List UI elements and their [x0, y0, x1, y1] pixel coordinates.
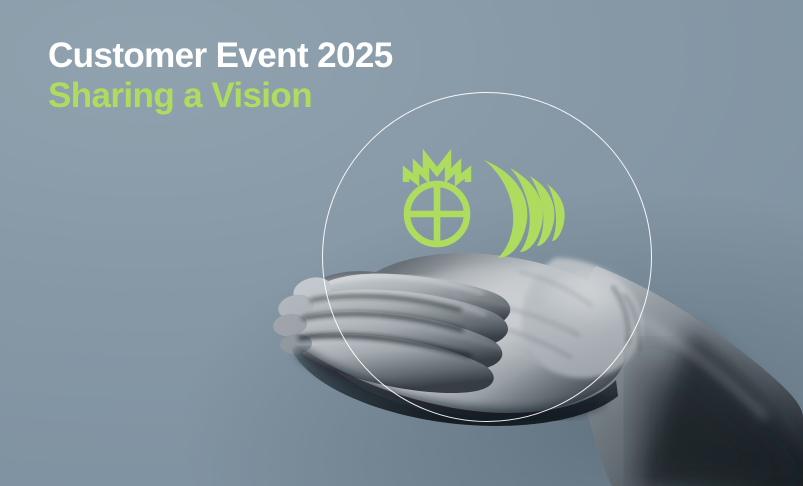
title-line-secondary: Sharing a Vision: [48, 78, 393, 113]
event-banner: Customer Event 2025 Sharing a Vision: [0, 0, 803, 486]
page-title: Customer Event 2025 Sharing a Vision: [48, 38, 393, 113]
circle-cross-emblem: [407, 184, 467, 244]
crown-icon: [406, 158, 468, 182]
crowned-circle-and-waves-logo: [398, 142, 578, 262]
four-crescent-waves: [484, 160, 565, 258]
title-line-primary: Customer Event 2025: [48, 38, 393, 73]
